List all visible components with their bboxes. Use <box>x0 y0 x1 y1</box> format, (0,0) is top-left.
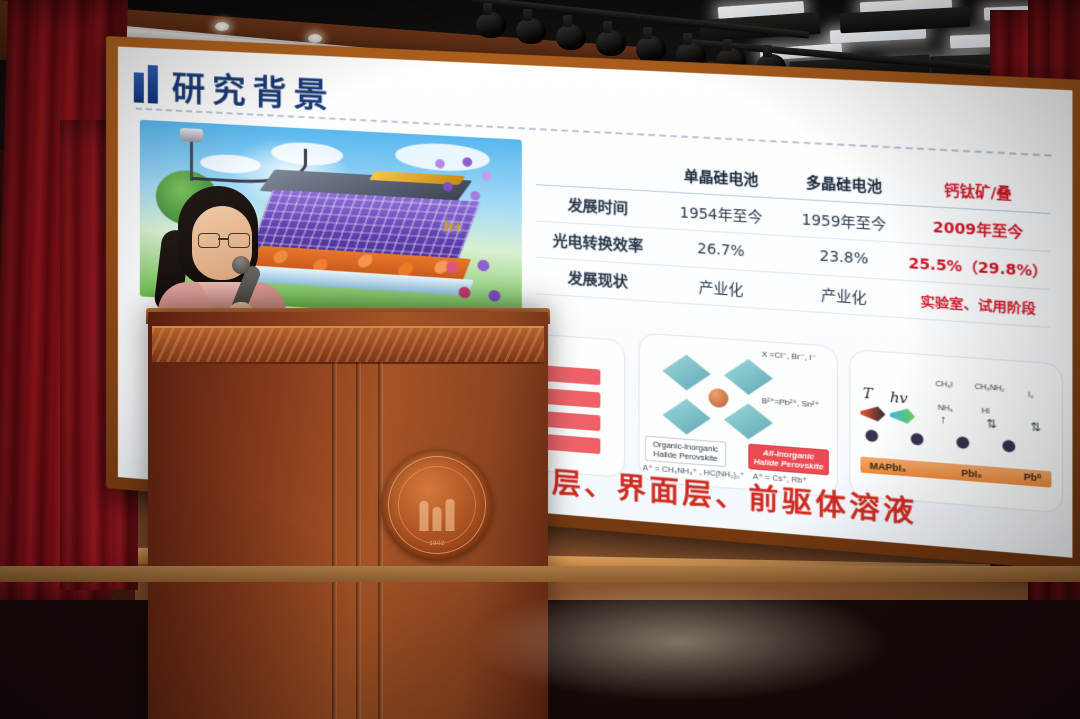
product-label: I₂ <box>1028 392 1033 400</box>
blue-bars-icon <box>134 64 158 103</box>
eyeglasses-icon <box>198 233 250 246</box>
university-seal: 1902 <box>381 449 493 561</box>
reaction-arrow-icon: ⇅ <box>986 417 997 432</box>
cell-perovskite-status: 实验室、试用阶段 <box>906 280 1050 327</box>
row-label-status: 发展现状 <box>536 257 661 302</box>
stage-label-pbi2: PbI₂ <box>961 467 982 479</box>
floor-light-reflection <box>470 582 890 702</box>
hole-carrier-label: h+ <box>443 218 462 237</box>
stage-spotlight <box>556 24 586 50</box>
stage-spotlight <box>596 30 626 56</box>
stage-spotlight <box>516 18 546 44</box>
seal-figures <box>420 499 455 531</box>
stage-spotlight <box>636 36 666 62</box>
stage-label-pb0: Pb⁰ <box>1024 471 1042 484</box>
recessed-downlight <box>215 22 229 31</box>
stage-label-mapbi3: MAPbI₃ <box>870 460 907 474</box>
comparison-table: 单晶硅电池 多晶硅电池 钙钛矿/叠 发展时间 1954年至今 1959年至今 2… <box>536 149 1050 328</box>
photon-symbol: hv <box>890 390 908 407</box>
temperature-symbol: T <box>863 386 873 403</box>
seal-year: 1902 <box>381 541 493 547</box>
product-label: NH₃ <box>938 404 953 413</box>
recessed-downlight <box>308 34 322 43</box>
cell-poly-status: 产业化 <box>782 273 906 318</box>
auditorium-scene: 研究背景 <box>0 0 1080 719</box>
crystal-lattice-icon <box>424 147 502 215</box>
product-label: CH₃I <box>936 381 953 390</box>
slide-title: 研究背景 <box>172 61 335 118</box>
lectern-carving <box>152 326 544 364</box>
reaction-arrow-icon: ⇅ <box>1030 420 1041 435</box>
product-label: HI <box>982 408 990 416</box>
a-site-cation-sphere <box>709 388 729 408</box>
stage-spotlight <box>476 12 506 38</box>
lamp-head <box>180 128 203 142</box>
cell-mono-status: 产业化 <box>660 265 782 310</box>
reaction-arrow-icon: ↑ <box>940 413 946 426</box>
